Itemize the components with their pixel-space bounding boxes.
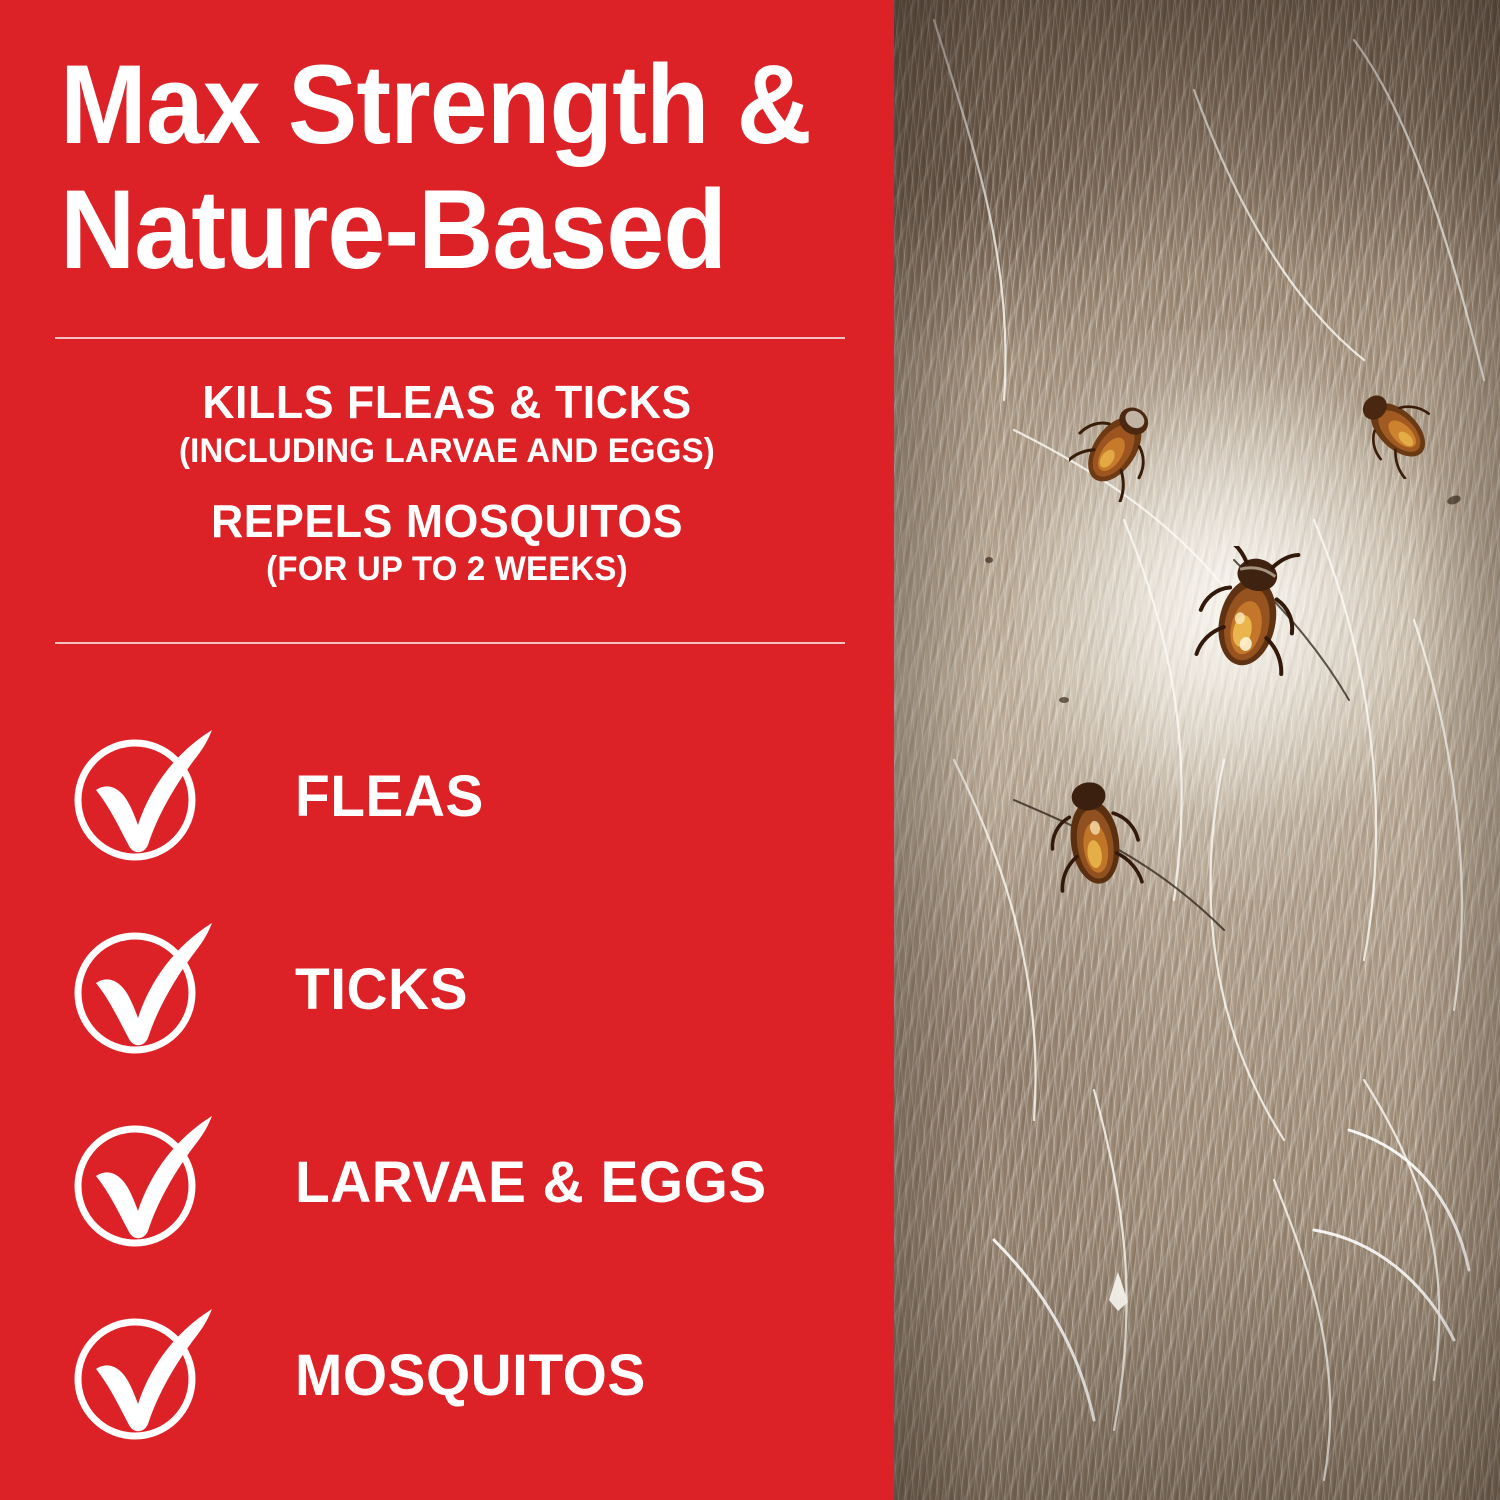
fur-with-fleas-photo: [894, 0, 1500, 1500]
list-item: FLEAS: [0, 700, 894, 893]
divider-bottom: [55, 642, 845, 644]
claim-sub-text: (FOR UP TO 2 WEEKS): [13, 549, 880, 589]
claim-main-text: KILLS FLEAS & TICKS: [13, 378, 880, 428]
list-item: TICKS: [0, 893, 894, 1086]
claims-block: KILLS FLEAS & TICKS (INCLUDING LARVAE AN…: [0, 378, 894, 590]
list-item: MOSQUITOS: [0, 1279, 894, 1472]
check-circle-icon: [72, 915, 247, 1065]
benefit-label: MOSQUITOS: [295, 1342, 646, 1409]
check-circle-icon: [72, 1108, 247, 1258]
claim-group-fleas-ticks: KILLS FLEAS & TICKS (INCLUDING LARVAE AN…: [0, 378, 894, 471]
product-infographic: Max Strength & Nature-Based KILLS FLEAS …: [0, 0, 1500, 1500]
fur-strand-layer-d: [894, 0, 1500, 1500]
claim-sub-text: (INCLUDING LARVAE AND EGGS): [13, 431, 880, 471]
claim-group-mosquitos: REPELS MOSQUITOS (FOR UP TO 2 WEEKS): [0, 497, 894, 590]
check-circle-icon: [72, 722, 247, 872]
page-title: Max Strength & Nature-Based: [60, 42, 823, 293]
claim-main-text: REPELS MOSQUITOS: [13, 497, 880, 547]
check-circle-icon: [72, 1301, 247, 1451]
list-item: LARVAE & EGGS: [0, 1086, 894, 1279]
benefit-label: FLEAS: [295, 763, 484, 830]
benefit-label: LARVAE & EGGS: [295, 1149, 767, 1216]
red-info-panel: Max Strength & Nature-Based KILLS FLEAS …: [0, 0, 894, 1500]
divider-top: [55, 337, 845, 339]
benefit-label: TICKS: [295, 956, 468, 1023]
benefit-list: FLEAS TICKS: [0, 700, 894, 1472]
